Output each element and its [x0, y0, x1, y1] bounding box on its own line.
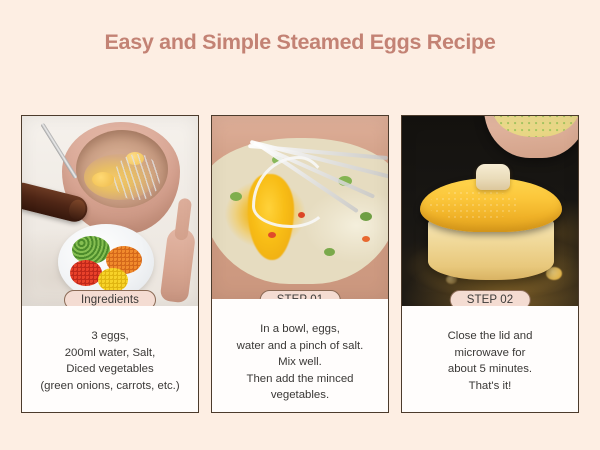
ingredients-photo: Ingredients	[22, 116, 198, 306]
red-pepper-pile	[70, 260, 102, 286]
recipe-card-step-02: STEP 02 Close the lid and microwave for …	[401, 115, 579, 413]
page-title: Easy and Simple Steamed Eggs Recipe	[0, 30, 600, 55]
recipe-card-step-01: STEP 01 In a bowl, eggs, water and a pin…	[211, 115, 389, 413]
card-caption: In a bowl, eggs, water and a pinch of sa…	[212, 299, 388, 412]
whisk-icon	[248, 142, 388, 238]
minced-vegetable-speck	[230, 192, 242, 201]
card-badge: Ingredients	[64, 290, 156, 306]
card-caption: Close the lid and microwave for about 5 …	[402, 306, 578, 412]
recipe-card-ingredients: Ingredients 3 eggs, 200ml water, Salt, D…	[21, 115, 199, 413]
steamed-egg	[492, 116, 578, 137]
recipe-cards-row: Ingredients 3 eggs, 200ml water, Salt, D…	[21, 115, 579, 413]
step-02-photo: STEP 02	[402, 116, 578, 306]
step-01-photo: STEP 01	[212, 116, 388, 299]
whisk-icon	[114, 154, 160, 200]
card-badge: STEP 01	[260, 290, 341, 299]
lid-knob	[476, 164, 510, 190]
egg-yolk-icon	[92, 172, 114, 187]
card-caption: 3 eggs, 200ml water, Salt, Diced vegetab…	[22, 306, 198, 412]
lid-texture	[428, 190, 520, 220]
minced-vegetable-speck	[324, 248, 335, 256]
whisk-loop	[252, 156, 330, 228]
yellow-pepper-pile	[98, 268, 128, 292]
card-badge: STEP 02	[450, 290, 531, 306]
